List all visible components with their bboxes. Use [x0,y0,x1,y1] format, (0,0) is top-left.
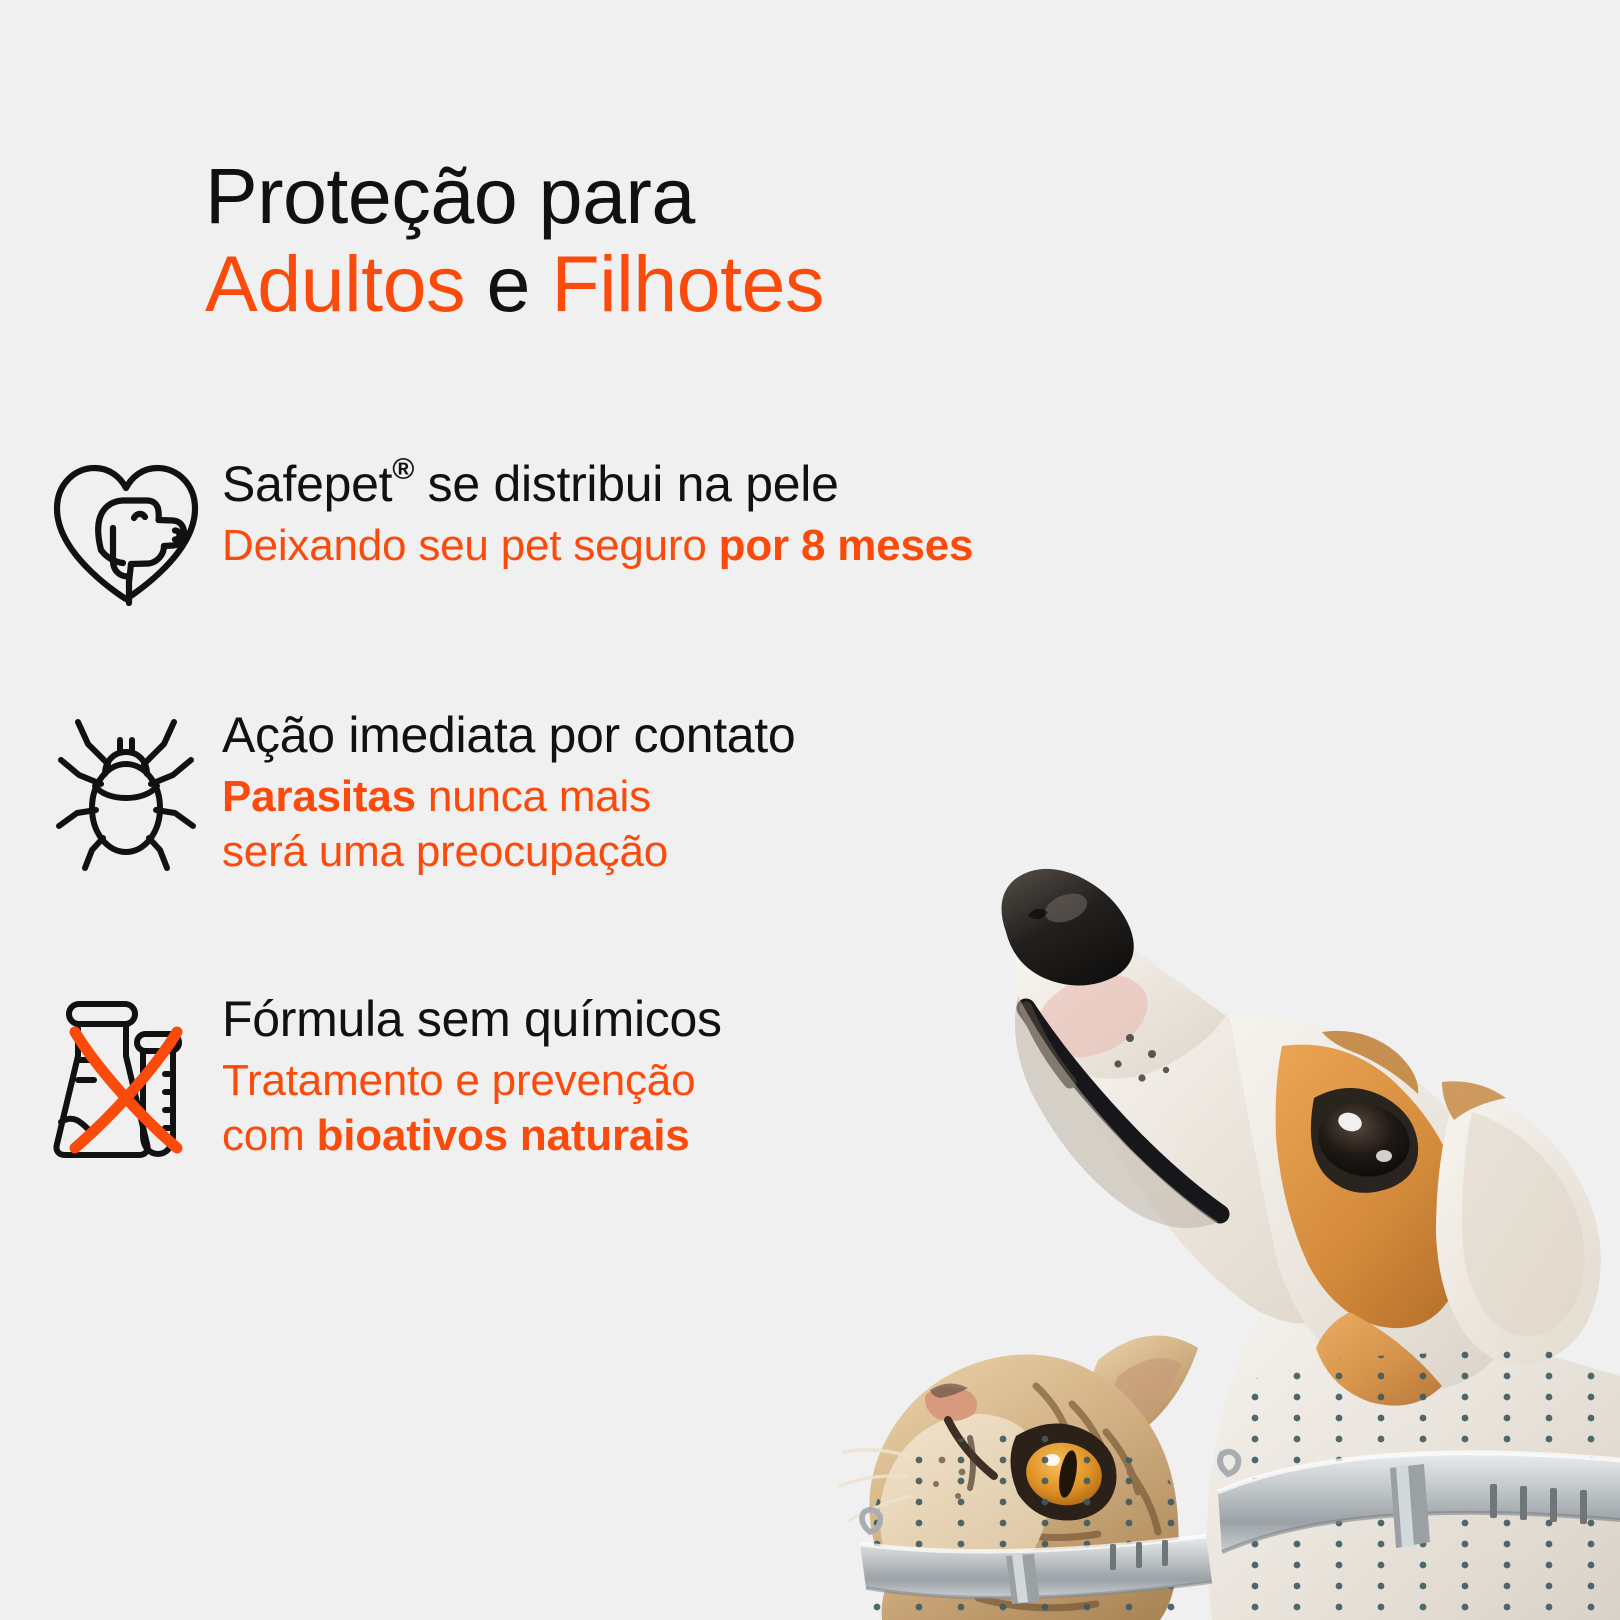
subtext-plain: será uma preocupação [222,827,668,876]
subtext-plain: com [222,1111,317,1160]
feature-row-skin-distribution: Safepet® se distribui na pele Deixando s… [50,452,973,606]
subtext-plain: Deixando seu pet seguro [222,521,719,570]
feature-heading-rest: se distribui na pele [414,456,839,512]
registered-trademark-icon: ® [392,453,414,486]
feature-subtext-line: com bioativos naturais [222,1108,722,1163]
feature-heading: Fórmula sem químicos [222,990,722,1049]
feature-row-immediate-action: Ação imediata por contato Parasitas nunc… [50,706,795,879]
feature-text-skin-distribution: Safepet® se distribui na pele Deixando s… [202,452,973,573]
feature-heading: Safepet® se distribui na pele [222,452,973,514]
feature-subtext: Deixando seu pet seguro por 8 meses [222,518,973,573]
tabby-cat [840,1336,1220,1620]
no-chemicals-flask-icon [50,990,202,1161]
feature-subtext-line: será uma preocupação [222,824,795,879]
subtext-plain: nunca mais [416,772,651,821]
headline-line-2: Adultos e Filhotes [205,240,824,328]
dog-and-cat-photo [830,820,1620,1620]
headline-conjunction: e [486,239,529,328]
feature-text-immediate-action: Ação imediata por contato Parasitas nunc… [202,706,795,879]
feature-subtext: Tratamento e prevenção com bioativos nat… [222,1053,722,1163]
page-title: Proteção para Adultos e Filhotes [205,152,824,329]
headline-line-1: Proteção para [205,151,695,240]
headline-adults: Adultos [205,239,465,328]
tick-icon [50,706,202,872]
feature-subtext-line: Parasitas nunca mais [222,769,795,824]
feature-text-no-chemicals: Fórmula sem químicos Tratamento e preven… [202,990,722,1163]
feature-heading-brand: Safepet [222,456,392,512]
feature-heading: Ação imediata por contato [222,706,795,765]
subtext-bold: bioativos naturais [317,1111,690,1160]
feature-row-no-chemicals: Fórmula sem químicos Tratamento e preven… [50,990,722,1163]
subtext-bold: Parasitas [222,772,416,821]
dog-in-heart-icon [50,452,202,606]
promo-banner: Proteção para Adultos e Filhotes Safe [0,0,1620,1620]
subtext-bold: por 8 meses [719,521,974,570]
feature-subtext-line: Tratamento e prevenção [222,1053,722,1108]
headline-puppies: Filhotes [551,239,824,328]
feature-subtext: Parasitas nunca mais será uma preocupaçã… [222,769,795,879]
subtext-plain: Tratamento e prevenção [222,1056,695,1105]
feature-subtext-line: Deixando seu pet seguro por 8 meses [222,518,973,573]
